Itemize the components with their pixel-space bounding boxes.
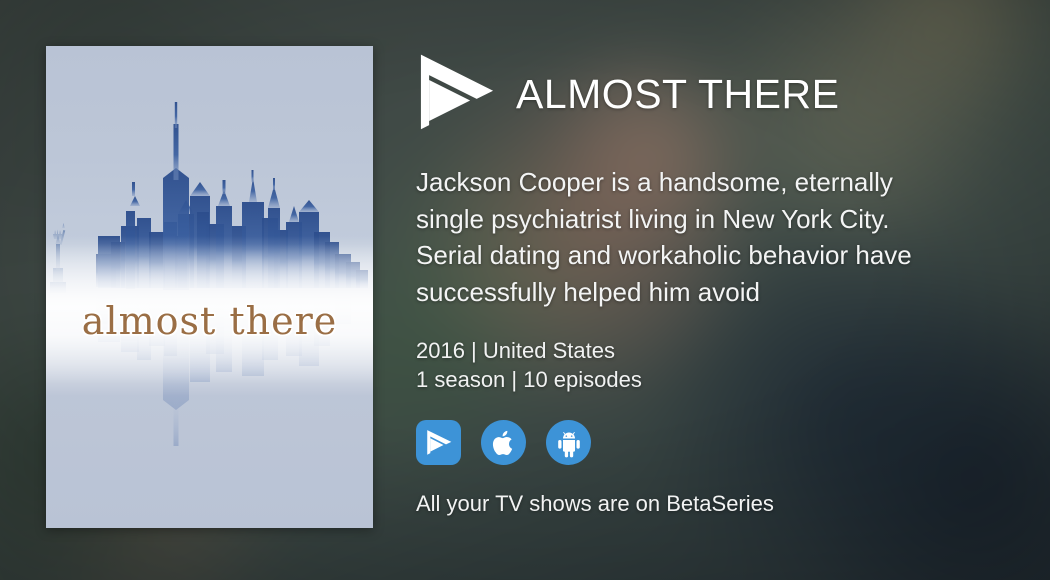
poster-artwork <box>46 46 373 528</box>
app-links-row <box>416 420 1016 465</box>
betaseries-app-link[interactable] <box>416 420 461 465</box>
show-poster[interactable]: almost there <box>46 46 373 528</box>
show-synopsis: Jackson Cooper is a handsome, eternally … <box>416 164 961 310</box>
betaseries-play-icon <box>425 429 453 457</box>
android-icon <box>554 428 584 458</box>
betaseries-logo-icon[interactable] <box>416 53 498 135</box>
show-metadata: 2016 | United States 1 season | 10 episo… <box>416 336 1016 394</box>
nyc-skyline-icon <box>46 46 373 528</box>
google-play-android-link[interactable] <box>546 420 591 465</box>
apple-app-store-link[interactable] <box>481 420 526 465</box>
meta-seasons-episodes: 1 season | 10 episodes <box>416 365 1016 394</box>
page-title: ALMOST THERE <box>516 74 839 115</box>
meta-year-country: 2016 | United States <box>416 336 1016 365</box>
brand-header: ALMOST THERE <box>416 46 1016 142</box>
page-root: almost there ALMOST THERE Jackson Cooper… <box>0 0 1050 580</box>
footer-tagline: All your TV shows are on BetaSeries <box>416 491 1016 517</box>
show-info-panel: ALMOST THERE Jackson Cooper is a handsom… <box>416 46 1016 517</box>
apple-icon <box>490 428 518 458</box>
poster-title-text: almost there <box>46 299 373 343</box>
